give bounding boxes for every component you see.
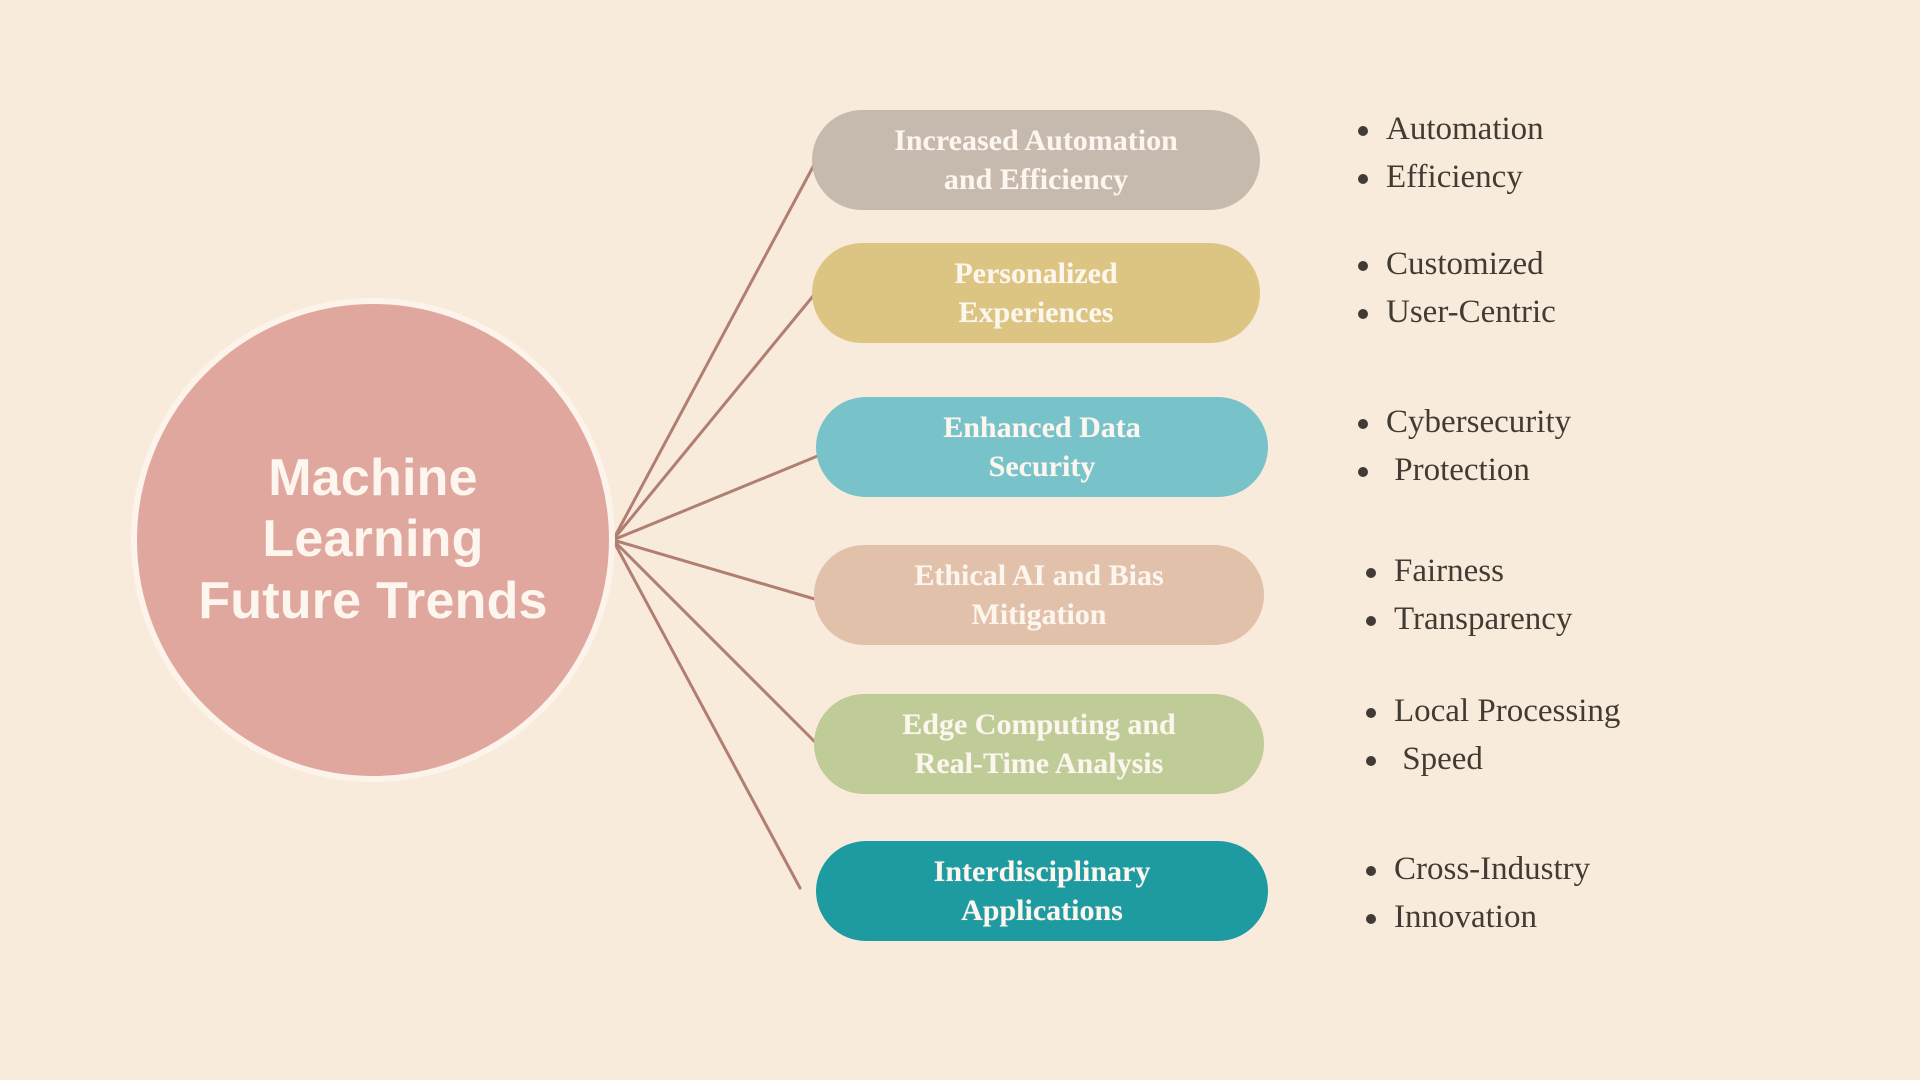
- bullet-dot-icon: [1366, 756, 1376, 766]
- branch-bullet-item: Efficiency: [1352, 153, 1544, 201]
- branch-bullet-label: Automation: [1386, 111, 1544, 147]
- branch-bullet-item: Innovation: [1360, 893, 1590, 941]
- branch-bullet-item: Automation: [1352, 105, 1544, 153]
- branch-bullet-list: FairnessTransparency: [1360, 547, 1572, 643]
- branch-bullet-item: Cybersecurity: [1352, 398, 1571, 446]
- branch-bullet-list: Cybersecurity Protection: [1352, 398, 1571, 494]
- branch-pill[interactable]: Enhanced Data Security: [816, 397, 1268, 497]
- bullet-dot-icon: [1366, 708, 1376, 718]
- bullet-dot-icon: [1366, 616, 1376, 626]
- branch-pill[interactable]: Increased Automation and Efficiency: [812, 110, 1260, 210]
- bullet-dot-icon: [1358, 126, 1368, 136]
- branch-bullet-list: CustomizedUser-Centric: [1352, 240, 1556, 336]
- connector-line: [613, 540, 818, 745]
- branch-bullet-label: Fairness: [1394, 553, 1504, 589]
- branch-bullet-label: Transparency: [1394, 601, 1572, 637]
- connector-line: [613, 455, 820, 540]
- bullet-dot-icon: [1358, 419, 1368, 429]
- branch-pill[interactable]: Personalized Experiences: [812, 243, 1260, 343]
- bullet-dot-icon: [1366, 568, 1376, 578]
- branch-bullet-item: Customized: [1352, 240, 1556, 288]
- branch-pill-label: Interdisciplinary Applications: [934, 852, 1151, 930]
- branch-pill-label: Edge Computing and Real-Time Analysis: [902, 705, 1175, 783]
- branch-bullet-item: Cross-Industry: [1360, 845, 1590, 893]
- branch-bullet-label: Customized: [1386, 246, 1544, 282]
- branch-bullet-item: Protection: [1352, 446, 1571, 494]
- branch-bullet-item: User-Centric: [1352, 288, 1556, 336]
- central-node[interactable]: Machine Learning Future Trends: [131, 298, 615, 782]
- branch-bullet-item: Fairness: [1360, 547, 1572, 595]
- connector-line: [613, 540, 800, 888]
- branch-bullet-label: User-Centric: [1386, 294, 1556, 330]
- branch-bullet-label: Speed: [1394, 741, 1483, 777]
- branch-bullet-item: Transparency: [1360, 595, 1572, 643]
- branch-pill[interactable]: Ethical AI and Bias Mitigation: [814, 545, 1264, 645]
- branch-pill[interactable]: Edge Computing and Real-Time Analysis: [814, 694, 1264, 794]
- connector-line: [613, 150, 822, 540]
- branch-pill-label: Enhanced Data Security: [943, 408, 1141, 486]
- branch-bullet-item: Local Processing: [1360, 687, 1620, 735]
- branch-bullet-label: Cross-Industry: [1394, 851, 1590, 887]
- branch-pill-label: Increased Automation and Efficiency: [894, 121, 1178, 199]
- central-node-label: Machine Learning Future Trends: [198, 448, 547, 632]
- branch-bullet-label: Cybersecurity: [1386, 404, 1571, 440]
- bullet-dot-icon: [1366, 866, 1376, 876]
- branch-bullet-list: Local Processing Speed: [1360, 687, 1620, 783]
- connector-line: [613, 290, 818, 540]
- branch-pill-label: Personalized Experiences: [954, 254, 1117, 332]
- bullet-dot-icon: [1358, 467, 1368, 477]
- branch-bullet-list: Cross-IndustryInnovation: [1360, 845, 1590, 941]
- bullet-dot-icon: [1366, 914, 1376, 924]
- branch-pill[interactable]: Interdisciplinary Applications: [816, 841, 1268, 941]
- branch-pill-label: Ethical AI and Bias Mitigation: [914, 556, 1163, 634]
- branch-bullet-item: Speed: [1360, 735, 1620, 783]
- branch-bullet-label: Protection: [1386, 452, 1530, 488]
- branch-bullet-list: AutomationEfficiency: [1352, 105, 1544, 201]
- connector-line: [613, 540, 818, 600]
- branch-bullet-label: Efficiency: [1386, 159, 1523, 195]
- mindmap-canvas: Machine Learning Future Trends Increased…: [0, 0, 1920, 1080]
- branch-bullet-label: Innovation: [1394, 899, 1537, 935]
- bullet-dot-icon: [1358, 261, 1368, 271]
- branch-bullet-label: Local Processing: [1394, 693, 1620, 729]
- bullet-dot-icon: [1358, 309, 1368, 319]
- bullet-dot-icon: [1358, 174, 1368, 184]
